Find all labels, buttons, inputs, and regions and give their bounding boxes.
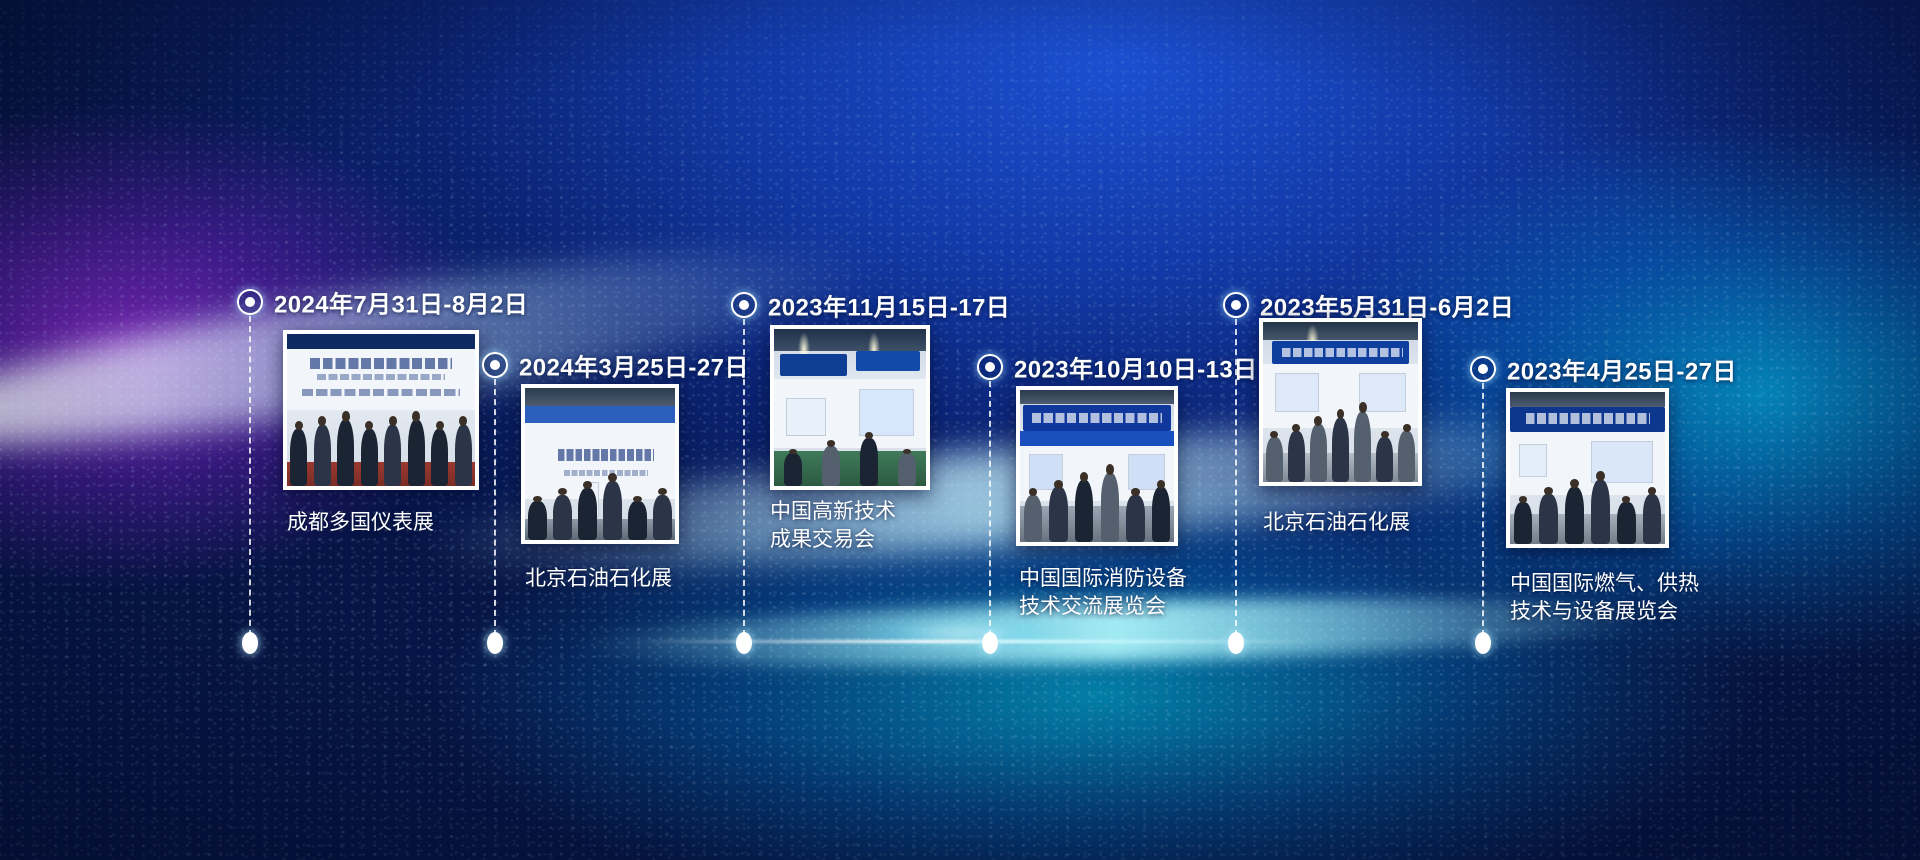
photo-person xyxy=(1075,480,1093,542)
photo-person xyxy=(1126,495,1144,542)
photo-person xyxy=(1539,494,1558,544)
photo-scene-group-photo-booth xyxy=(287,334,475,486)
event-caption-1: 成都多国仪表展 xyxy=(287,509,434,537)
timeline-connector-3 xyxy=(743,319,745,636)
event-photo-4[interactable] xyxy=(1016,386,1178,546)
photo-person xyxy=(898,453,916,486)
photo-people-row xyxy=(525,473,675,540)
photo-people-row xyxy=(1263,402,1418,482)
photo-backdrop-title xyxy=(310,358,453,369)
timeline-marker-6[interactable] xyxy=(1470,356,1496,382)
photo-scene-blue-booth-hall xyxy=(774,329,926,486)
event-photo-5[interactable] xyxy=(1259,318,1422,486)
event-photo-image-5 xyxy=(1263,322,1418,482)
photo-person xyxy=(1617,502,1636,544)
photo-person xyxy=(361,429,378,486)
photo-person xyxy=(1643,494,1662,544)
photo-booth-sign-right xyxy=(856,351,920,371)
photo-person xyxy=(578,488,598,540)
timeline-marker-4[interactable] xyxy=(977,354,1003,380)
photo-person xyxy=(384,425,401,486)
event-date-6: 2023年4月25日-27日 xyxy=(1507,352,1737,387)
event-photo-3[interactable] xyxy=(770,325,930,490)
photo-person xyxy=(822,446,840,486)
photo-scene-booth-visitors-white xyxy=(525,388,675,540)
photo-ceiling xyxy=(1510,392,1665,407)
photo-person xyxy=(1354,412,1371,482)
photo-booth-header-text xyxy=(1526,413,1650,424)
photo-wall-slogan xyxy=(558,449,654,461)
photo-person xyxy=(553,495,573,540)
photo-person xyxy=(408,420,425,486)
photo-person xyxy=(1266,437,1283,482)
photo-scene-fire-equipment-booth xyxy=(1020,390,1174,542)
event-caption-6: 中国国际燃气、供热 技术与设备展览会 xyxy=(1510,570,1699,626)
event-photo-image-2 xyxy=(525,388,675,540)
timeline-baseline-dot-6[interactable] xyxy=(1475,632,1491,654)
timeline-connector-2 xyxy=(494,379,496,636)
timeline-marker-3[interactable] xyxy=(731,292,757,318)
photo-people-row xyxy=(1020,463,1174,542)
timeline-connector-5 xyxy=(1235,319,1237,636)
photo-person xyxy=(628,501,648,540)
photo-person xyxy=(784,453,802,486)
event-date-4: 2023年10月10日-13日 xyxy=(1014,350,1257,385)
event-photo-image-4 xyxy=(1020,390,1174,542)
photo-person xyxy=(337,420,354,486)
photo-person xyxy=(1310,424,1327,482)
photo-person xyxy=(528,501,548,540)
timeline-baseline-dot-3[interactable] xyxy=(736,632,752,654)
photo-booth-subheader xyxy=(1020,431,1174,446)
photo-person xyxy=(431,429,448,486)
photo-person xyxy=(314,425,331,486)
photo-booth-header-text xyxy=(1282,348,1403,358)
photo-person xyxy=(1152,487,1170,542)
timeline-marker-5[interactable] xyxy=(1223,292,1249,318)
event-caption-4: 中国国际消防设备 技术交流展览会 xyxy=(1019,565,1187,621)
timeline-baseline-dot-5[interactable] xyxy=(1228,632,1244,654)
photo-people-row xyxy=(774,423,926,486)
event-caption-5: 北京石油石化展 xyxy=(1263,509,1410,537)
event-photo-image-1 xyxy=(287,334,475,486)
photo-ceiling xyxy=(774,329,926,351)
photo-person xyxy=(653,495,673,540)
photo-ceiling xyxy=(525,388,675,406)
photo-scene-gas-heating-booth xyxy=(1510,392,1665,544)
event-photo-1[interactable] xyxy=(283,330,479,490)
timeline-marker-2[interactable] xyxy=(482,352,508,378)
photo-header-band xyxy=(525,406,675,423)
timeline-connector-1 xyxy=(249,316,251,636)
photo-person xyxy=(455,425,472,486)
timeline-connector-4 xyxy=(989,381,991,636)
event-photo-image-6 xyxy=(1510,392,1665,544)
photo-booth-sign-left xyxy=(780,354,847,376)
event-date-3: 2023年11月15日-17日 xyxy=(768,288,1010,323)
photo-people-row xyxy=(1510,471,1665,544)
event-photo-6[interactable] xyxy=(1506,388,1669,548)
event-caption-2: 北京石油石化展 xyxy=(525,565,672,593)
event-photo-image-3 xyxy=(774,329,926,486)
timeline-baseline-dot-1[interactable] xyxy=(242,632,258,654)
photo-person xyxy=(1398,431,1415,482)
timeline-baseline-dot-2[interactable] xyxy=(487,632,503,654)
event-date-1: 2024年7月31日-8月2日 xyxy=(274,285,528,320)
photo-person xyxy=(860,438,878,486)
event-caption-3: 中国高新技术 成果交易会 xyxy=(770,498,896,554)
photo-person xyxy=(1565,487,1584,544)
photo-person xyxy=(1514,502,1533,544)
photo-person xyxy=(1101,473,1119,542)
photo-booth-header-text xyxy=(1032,413,1161,424)
photo-person xyxy=(1024,495,1042,542)
photo-ceiling xyxy=(1020,390,1174,404)
exhibition-history-timeline: 2024年7月31日-8月2日成都多国仪表展2024年3月25日-27日北京石油… xyxy=(0,0,1920,860)
photo-person xyxy=(603,481,623,540)
photo-person xyxy=(1591,480,1610,544)
photo-people-row xyxy=(287,413,475,486)
photo-person xyxy=(1376,437,1393,482)
photo-ceiling xyxy=(1263,322,1418,340)
timeline-connector-6 xyxy=(1482,383,1484,636)
event-date-2: 2024年3月25日-27日 xyxy=(519,348,749,383)
photo-backdrop-subtitle xyxy=(317,374,445,380)
event-photo-2[interactable] xyxy=(521,384,679,544)
photo-person xyxy=(1049,487,1067,542)
timeline-marker-1[interactable] xyxy=(237,289,263,315)
photo-person xyxy=(1332,418,1349,482)
photo-person xyxy=(1288,431,1305,482)
photo-backdrop-line xyxy=(302,389,460,397)
timeline-baseline-dot-4[interactable] xyxy=(982,632,998,654)
photo-top-band xyxy=(287,334,475,349)
photo-scene-oilwell-booth-crowd xyxy=(1263,322,1418,482)
photo-person xyxy=(290,429,307,486)
